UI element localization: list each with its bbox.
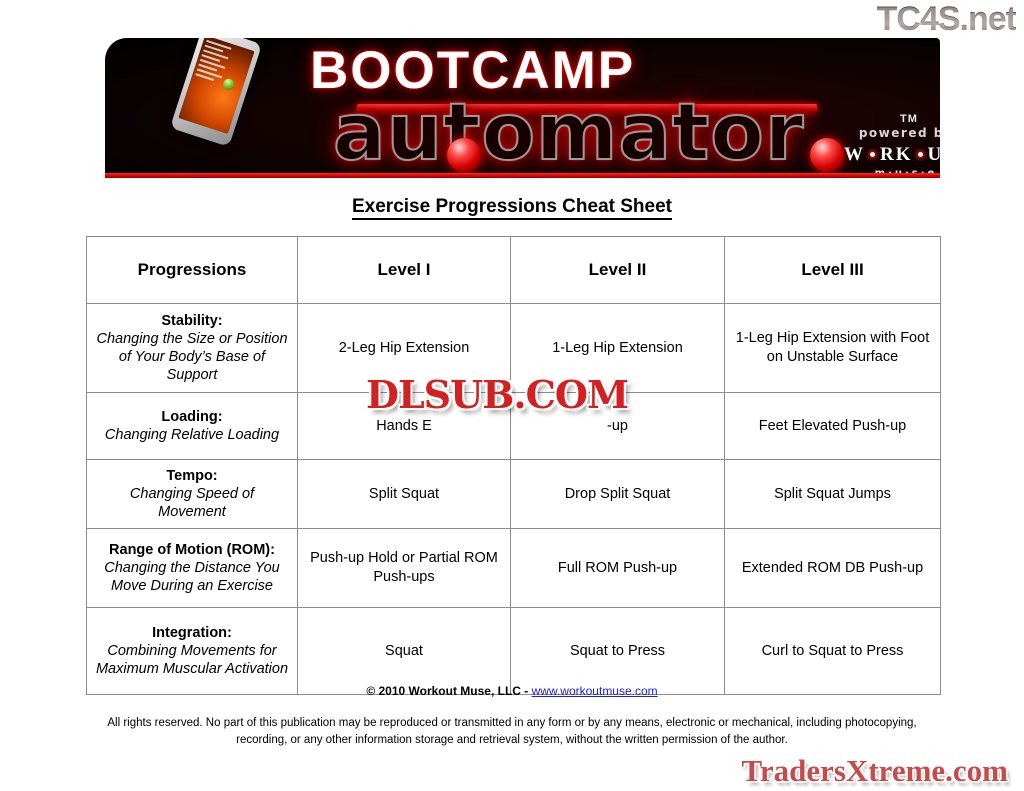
copyright-line: © 2010 Workout Muse, LLC - www.workoutmu… — [0, 684, 1024, 698]
workout-muse-logo: WRKUT™ — [841, 144, 940, 166]
red-orb-icon-2 — [810, 138, 844, 172]
level-3-cell: Curl to Squat to Press — [725, 608, 941, 695]
exercise-progressions-table: Progressions Level I Level II Level III … — [86, 236, 941, 695]
copyright-text: © 2010 Workout Muse, LLC - — [366, 684, 531, 698]
level-2-cell: Squat to Press — [511, 608, 725, 695]
ring-icon-1 — [866, 148, 879, 161]
column-header-level-3: Level III — [725, 237, 941, 304]
progression-name: Stability: — [95, 312, 289, 330]
tradersxtreme-watermark: TradersXtreme.com — [741, 755, 1008, 786]
column-header-level-2: Level II — [511, 237, 725, 304]
powered-by-label: powered by — [841, 126, 940, 140]
level-1-cell: Split Squat — [298, 460, 511, 529]
progression-name: Tempo: — [95, 467, 289, 485]
phone-status-dot — [222, 77, 236, 91]
level-2-cell: Drop Split Squat — [511, 460, 725, 529]
progression-cell: Integration: Combining Movements for Max… — [87, 608, 298, 695]
progression-description: Changing Relative Loading — [95, 426, 289, 444]
table-row: Tempo: Changing Speed of Movement Split … — [87, 460, 941, 529]
table-row: Range of Motion (ROM): Changing the Dist… — [87, 529, 941, 608]
banner-red-bar — [105, 173, 940, 178]
progression-cell: Stability: Changing the Size or Position… — [87, 304, 298, 393]
level-1-cell: Push-up Hold or Partial ROM Push-ups — [298, 529, 511, 608]
progression-cell: Range of Motion (ROM): Changing the Dist… — [87, 529, 298, 608]
table-row: Integration: Combining Movements for Max… — [87, 608, 941, 695]
progression-description: Changing the Size or Position of Your Bo… — [95, 330, 289, 384]
phone-screen — [178, 38, 254, 134]
progression-name: Range of Motion (ROM): — [95, 541, 289, 559]
progression-name: Loading: — [95, 408, 289, 426]
level-3-cell: Split Squat Jumps — [725, 460, 941, 529]
level-1-cell: Squat — [298, 608, 511, 695]
table-header-row: Progressions Level I Level II Level III — [87, 237, 941, 304]
wm-letters-rk: RK — [880, 144, 913, 165]
phone-illustration — [170, 38, 262, 147]
progression-description: Changing the Distance You Move During an… — [95, 559, 289, 595]
wm-letters-ut: UT — [928, 144, 940, 165]
red-orb-icon-1 — [447, 138, 481, 172]
progression-name: Integration: — [95, 624, 289, 642]
progression-description: Combining Movements for Maximum Muscular… — [95, 642, 289, 678]
column-header-progressions: Progressions — [87, 237, 298, 304]
wm-letter-w: W — [844, 144, 865, 165]
progression-cell: Loading: Changing Relative Loading — [87, 393, 298, 460]
dlsub-watermark: DLSUB.COM — [366, 376, 628, 414]
column-header-level-1: Level I — [298, 237, 511, 304]
level-2-cell: Full ROM Push-up — [511, 529, 725, 608]
site-watermark-top: TC4S.net — [877, 2, 1016, 36]
level-3-cell: Feet Elevated Push-up — [725, 393, 941, 460]
page-title-text: Exercise Progressions Cheat Sheet — [352, 196, 672, 220]
level-3-cell: 1-Leg Hip Extension with Foot on Unstabl… — [725, 304, 941, 393]
rights-reserved-text: All rights reserved. No part of this pub… — [100, 715, 924, 748]
brand-automator: automator — [333, 94, 804, 172]
powered-by-block: powered by WRKUT™ m·u·s·e — [841, 126, 940, 178]
page-title: Exercise Progressions Cheat Sheet — [0, 196, 1024, 218]
progression-cell: Tempo: Changing Speed of Movement — [87, 460, 298, 529]
level-3-cell: Extended ROM DB Push-up — [725, 529, 941, 608]
bootcamp-automator-banner: BOOTCAMP automator TM powered by WRKUT™ … — [105, 38, 940, 178]
trademark-symbol: TM — [900, 113, 918, 125]
ring-icon-2 — [914, 148, 927, 161]
progression-description: Changing Speed of Movement — [95, 485, 289, 521]
workoutmuse-link[interactable]: www.workoutmuse.com — [532, 684, 658, 698]
